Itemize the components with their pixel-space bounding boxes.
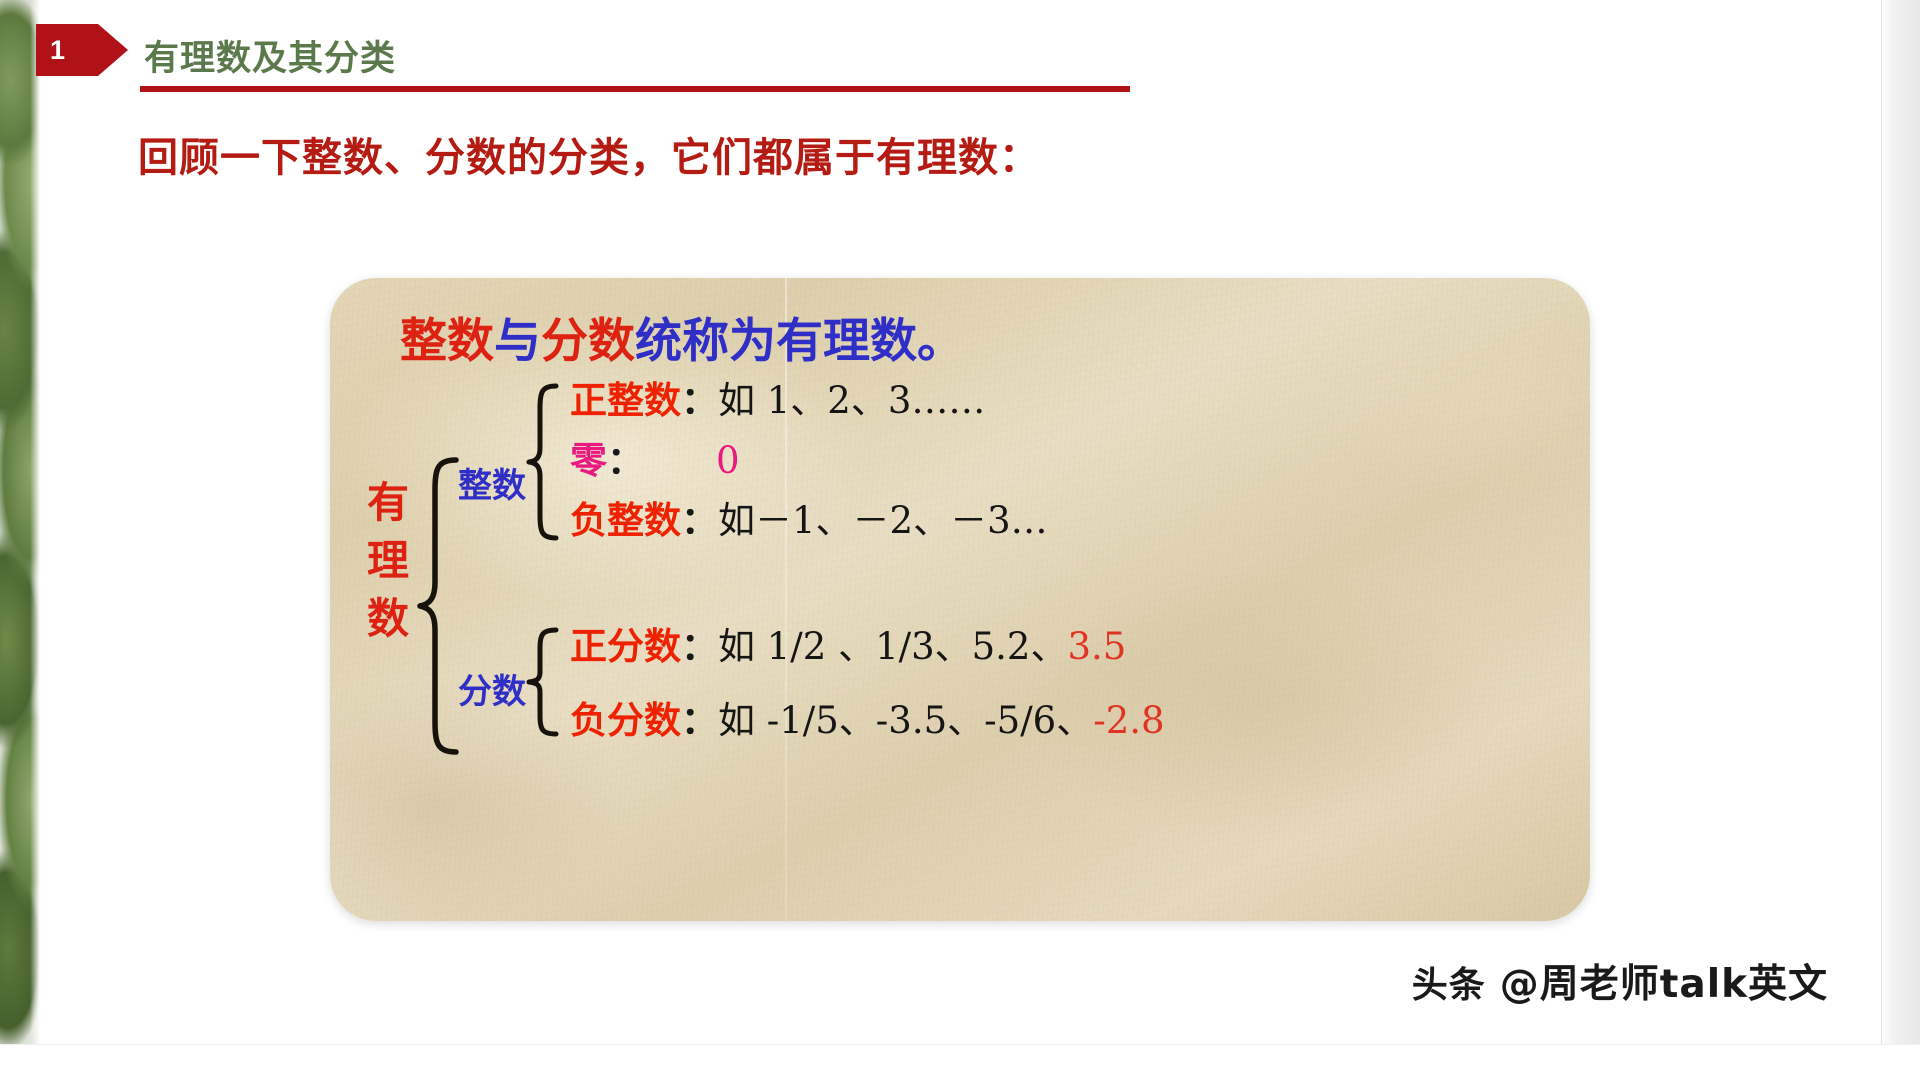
group-label-fraction: 分数 [458,664,526,713]
integer-brace-icon [526,382,560,542]
row-colon: ： [681,698,718,742]
row-colon: ： [681,498,718,542]
row-example-zero: 0 [716,439,740,482]
watermark: 头条 @周老师talk英文 [1412,953,1828,1009]
fraction-brace-icon [526,626,560,738]
parchment-content-card: 整数与分数统称为有理数。 有理数 整数 分数 正整数：如 1、2、3…… 零：0… [330,278,1590,921]
page-title: 有理数及其分类 [144,30,396,81]
row-negative-fraction: 负分数：如 -1/5、-3.5、-5/6、-2.8 [570,702,1165,739]
bottom-page-edge [0,1044,1920,1077]
row-example-positive-fraction: 如 1/2 、1/3、5.2、 [718,625,1067,668]
section-number-label: 1 [50,37,65,64]
row-positive-fraction: 正分数：如 1/2 、1/3、5.2、3.5 [570,628,1126,665]
headline-part-integer: 整数 [400,314,494,369]
headline-part-and: 与 [494,314,541,369]
row-term-zero: 零 [570,438,607,482]
headline-part-fraction: 分数 [541,314,635,369]
section-badge-arrow-icon [98,24,128,76]
right-edge-band [1881,0,1920,1045]
root-label-rational-number: 有理数 [362,474,414,648]
slide-subtitle: 回顾一下整数、分数的分类，它们都属于有理数： [138,125,1040,183]
parchment-seam-line [785,278,787,921]
parchment-grain-texture [330,278,1590,921]
watermark-brand: 头条 [1412,956,1486,1008]
row-positive-integer: 正整数：如 1、2、3…… [570,382,985,419]
header-underline-rule [140,86,1130,92]
outer-brace-icon [416,456,462,756]
headline-part-tail: 统称为有理数。 [635,314,964,369]
row-colon: ： [681,378,718,422]
row-colon: ： [607,438,644,482]
group-label-integer: 整数 [458,458,526,507]
row-zero: 零：0 [570,442,740,479]
row-example-positive-fraction-accent: 3.5 [1067,625,1126,668]
row-term-negative-fraction: 负分数 [570,698,681,742]
card-headline: 整数与分数统称为有理数。 [400,302,964,371]
row-example-negative-integer: 如－1、－2、－3… [718,499,1048,542]
row-example-negative-fraction-accent: -2.8 [1093,699,1164,742]
plant-decoration-strip [0,0,40,1045]
row-example-positive-integer: 如 1、2、3…… [718,379,985,422]
row-example-negative-fraction: 如 -1/5、-3.5、-5/6、 [718,699,1093,742]
row-term-positive-integer: 正整数 [570,378,681,422]
row-term-positive-fraction: 正分数 [570,624,681,668]
watermark-handle: @周老师talk英文 [1500,953,1828,1009]
section-number-badge: 1 [36,24,98,76]
row-term-negative-integer: 负整数 [570,498,681,542]
row-negative-integer: 负整数：如－1、－2、－3… [570,502,1048,539]
slide-header: 1 有理数及其分类 [36,24,1096,96]
row-colon: ： [681,624,718,668]
